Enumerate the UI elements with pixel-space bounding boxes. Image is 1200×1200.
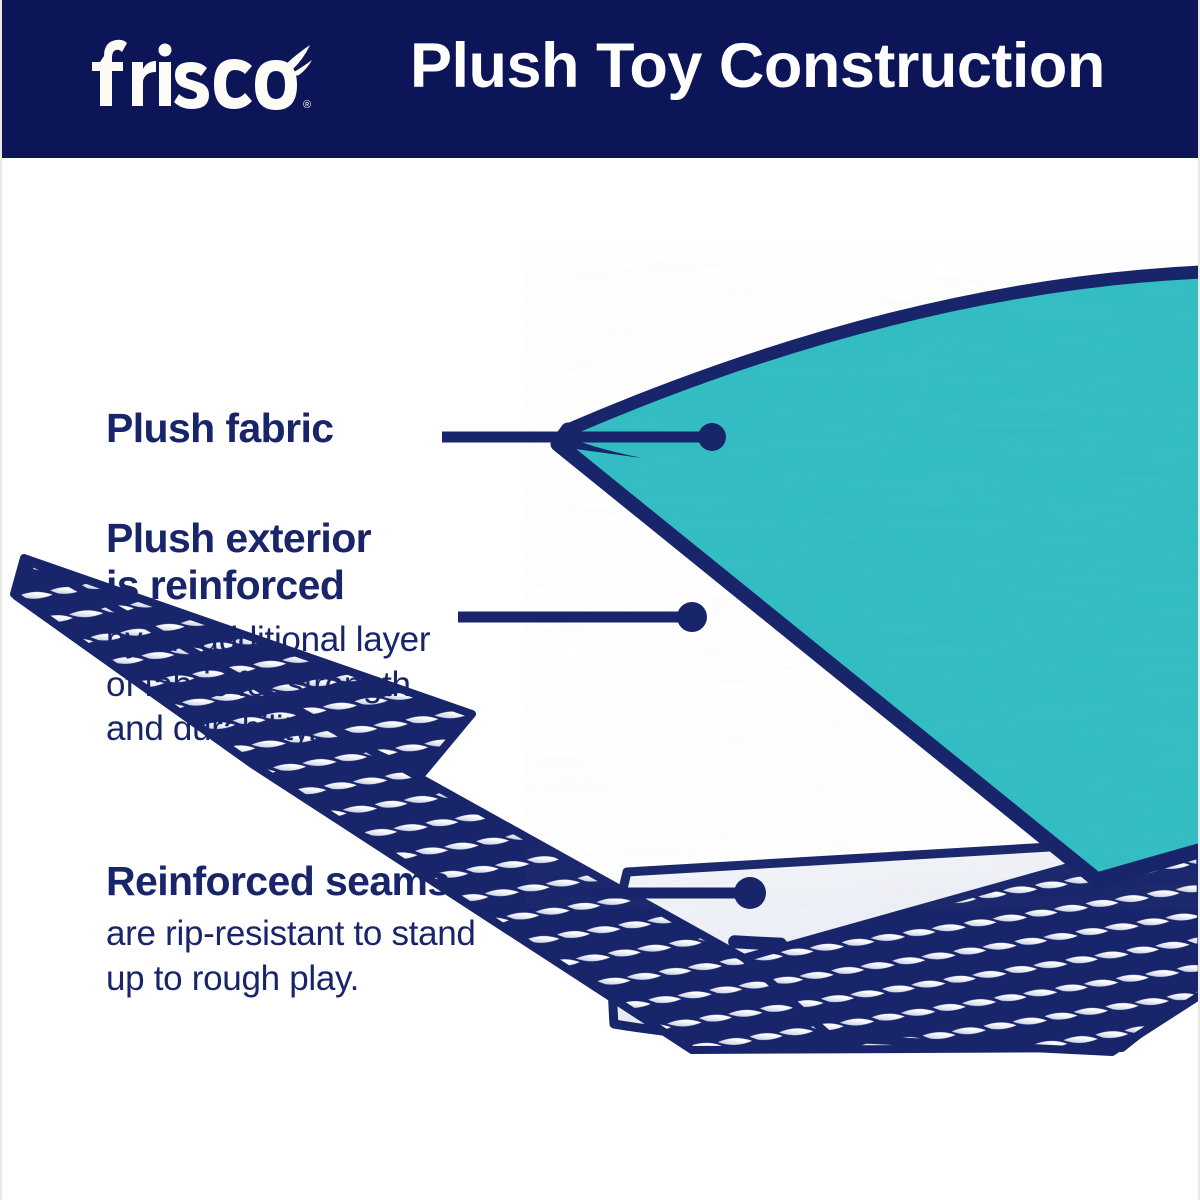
leader-line-plush-exterior [458,595,714,639]
registered-mark: ® [303,99,311,111]
callout-body: by an additional layer of fabric for str… [106,618,430,751]
callout-headline: Plush fabric [106,405,333,452]
callout-headline: Reinforced seams [106,858,476,905]
plush-fabric-layer [558,272,1200,880]
page-title: Plush Toy Construction [410,35,1105,98]
callout-plush-exterior: Plush exterior is reinforced by an addit… [106,515,430,752]
callout-body: are rip-resistant to stand up to rough p… [106,912,476,1001]
header-bar: ® Plush Toy Construction [2,0,1200,158]
callout-reinforced-seams: Reinforced seams are rip-resistant to st… [106,858,476,1001]
infographic-page: ® Plush Toy Construction [0,0,1200,1200]
frisco-logo: ® [64,22,324,122]
callout-plush-fabric: Plush fabric [106,405,333,452]
callout-headline: Plush exterior is reinforced [106,515,430,609]
